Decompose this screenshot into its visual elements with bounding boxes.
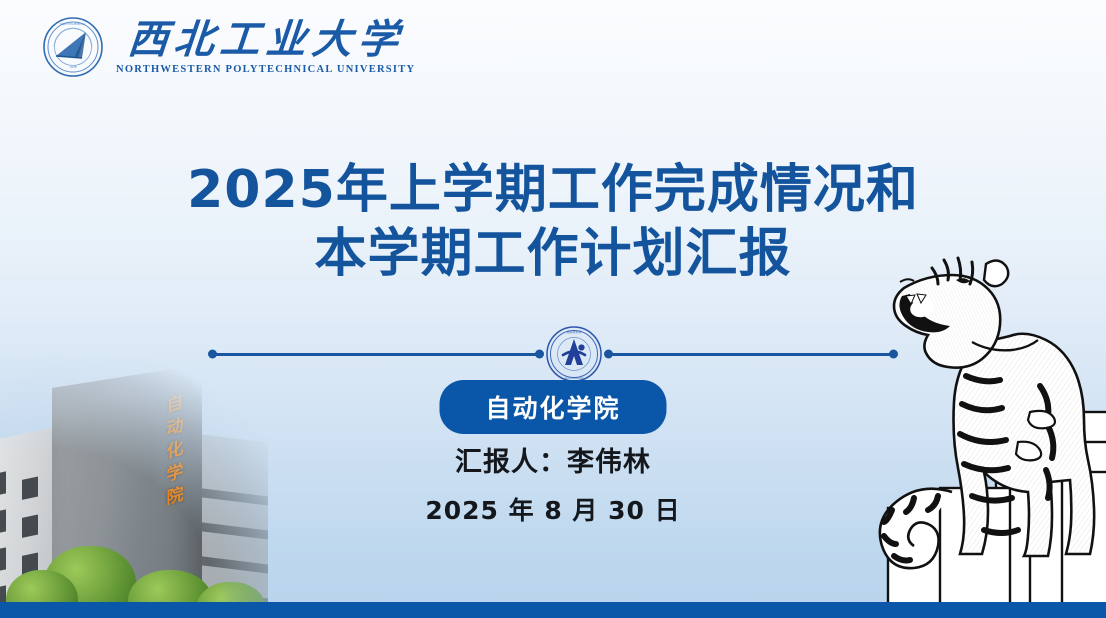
building-sign-char: 自 [167,394,184,416]
presentation-slide: POLYTECHNICAL 1938 西北工业大学 NORTHWESTERN P… [0,0,1106,618]
divider-line-left [213,353,539,356]
automation-college-crest-icon: 自动化学院 AUTOMATION [545,325,603,383]
university-name-en: NORTHWESTERN POLYTECHNICAL UNIVERSITY [116,64,415,75]
college-badge: 自动化学院 [439,380,666,434]
svg-text:自动化学院: 自动化学院 [567,329,582,334]
svg-text:1938: 1938 [70,65,77,69]
building-sign-char: 动 [167,417,184,439]
tiger-illustration [844,246,1106,618]
divider-dot-icon [535,350,544,359]
divider-dot-icon [208,350,217,359]
university-logo: POLYTECHNICAL 1938 西北工业大学 NORTHWESTERN P… [42,16,415,78]
npu-crest-icon: POLYTECHNICAL 1938 [42,16,104,78]
bottom-accent-bar [0,602,1106,618]
title-line-1: 2025年上学期工作完成情况和 [0,158,1106,222]
svg-text:POLYTECHNICAL: POLYTECHNICAL [60,22,85,26]
divider-dot-icon [604,350,613,359]
university-name-cn: 西北工业大学 [126,19,406,61]
